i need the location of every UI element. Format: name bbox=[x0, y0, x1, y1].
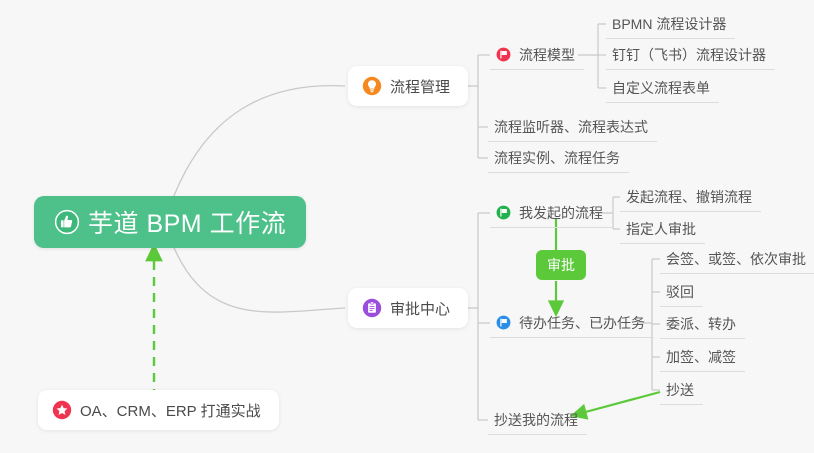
node-todo-done-tasks[interactable]: 待办任务、已办任务 bbox=[490, 308, 654, 338]
node-label: 加签、减签 bbox=[666, 347, 736, 367]
node-label: 会签、或签、依次审批 bbox=[666, 249, 806, 269]
flag-icon bbox=[496, 315, 511, 330]
tag-approval[interactable]: 审批 bbox=[536, 250, 586, 280]
arrow-cc-to-cc-my-processes bbox=[578, 392, 660, 414]
flag-icon bbox=[496, 47, 511, 62]
branch-label: 审批中心 bbox=[390, 298, 450, 319]
node-start-cancel-process[interactable]: 发起流程、撤销流程 bbox=[620, 182, 761, 212]
node-process-model[interactable]: 流程模型 bbox=[490, 40, 584, 70]
node-label: 流程实例、流程任务 bbox=[494, 148, 620, 168]
node-label: 流程模型 bbox=[519, 45, 575, 65]
node-label: 委派、转办 bbox=[666, 314, 736, 334]
node-label: 抄送我的流程 bbox=[494, 410, 578, 430]
clipboard-icon bbox=[362, 298, 382, 318]
node-cc-to-me-processes[interactable]: 抄送我的流程 bbox=[488, 405, 587, 435]
node-carbon-copy[interactable]: 抄送 bbox=[660, 375, 703, 405]
node-label: 驳回 bbox=[666, 282, 694, 302]
node-label: BPMN 流程设计器 bbox=[612, 14, 726, 34]
mindmap-canvas: 芋道 BPM 工作流 流程管理 流程模型 BPMN 流程设计器 钉钉（飞书 bbox=[0, 0, 814, 453]
node-label: 流程监听器、流程表达式 bbox=[494, 117, 648, 137]
thumbs-up-icon bbox=[54, 209, 80, 235]
node-label: 自定义流程表单 bbox=[612, 78, 710, 98]
node-process-instance-task[interactable]: 流程实例、流程任务 bbox=[488, 143, 629, 173]
node-process-listener-expression[interactable]: 流程监听器、流程表达式 bbox=[488, 112, 657, 142]
tag-label: 审批 bbox=[547, 255, 575, 275]
node-label: 指定人审批 bbox=[626, 219, 696, 239]
root-node[interactable]: 芋道 BPM 工作流 bbox=[34, 196, 306, 248]
branch-approval-center[interactable]: 审批中心 bbox=[348, 288, 468, 328]
node-countersign-orsign-sequential[interactable]: 会签、或签、依次审批 bbox=[660, 244, 814, 274]
lightbulb-icon bbox=[362, 76, 382, 96]
link-root-to-process-management bbox=[170, 86, 345, 206]
node-add-remove-sign[interactable]: 加签、减签 bbox=[660, 342, 745, 372]
node-bpmn-designer[interactable]: BPMN 流程设计器 bbox=[606, 9, 735, 39]
node-label: 我发起的流程 bbox=[519, 203, 603, 223]
branch-label: 流程管理 bbox=[390, 76, 450, 97]
node-label: 抄送 bbox=[666, 380, 694, 400]
node-label: 待办任务、已办任务 bbox=[519, 313, 645, 333]
flag-icon bbox=[496, 205, 511, 220]
link-root-to-approval-center bbox=[170, 238, 345, 312]
node-label: OA、CRM、ERP 打通实战 bbox=[80, 400, 261, 421]
node-label: 钉钉（飞书）流程设计器 bbox=[612, 45, 766, 65]
node-dingtalk-feishu-designer[interactable]: 钉钉（飞书）流程设计器 bbox=[606, 40, 775, 70]
node-designated-approver[interactable]: 指定人审批 bbox=[620, 214, 705, 244]
star-icon bbox=[52, 400, 72, 420]
node-label: 发起流程、撤销流程 bbox=[626, 187, 752, 207]
branch-process-management[interactable]: 流程管理 bbox=[348, 66, 468, 106]
node-delegate-transfer[interactable]: 委派、转办 bbox=[660, 309, 745, 339]
node-my-initiated-processes[interactable]: 我发起的流程 bbox=[490, 198, 612, 228]
node-custom-process-form[interactable]: 自定义流程表单 bbox=[606, 73, 719, 103]
node-reject[interactable]: 驳回 bbox=[660, 277, 703, 307]
root-label: 芋道 BPM 工作流 bbox=[88, 204, 286, 240]
node-integration-practice[interactable]: OA、CRM、ERP 打通实战 bbox=[38, 390, 279, 430]
